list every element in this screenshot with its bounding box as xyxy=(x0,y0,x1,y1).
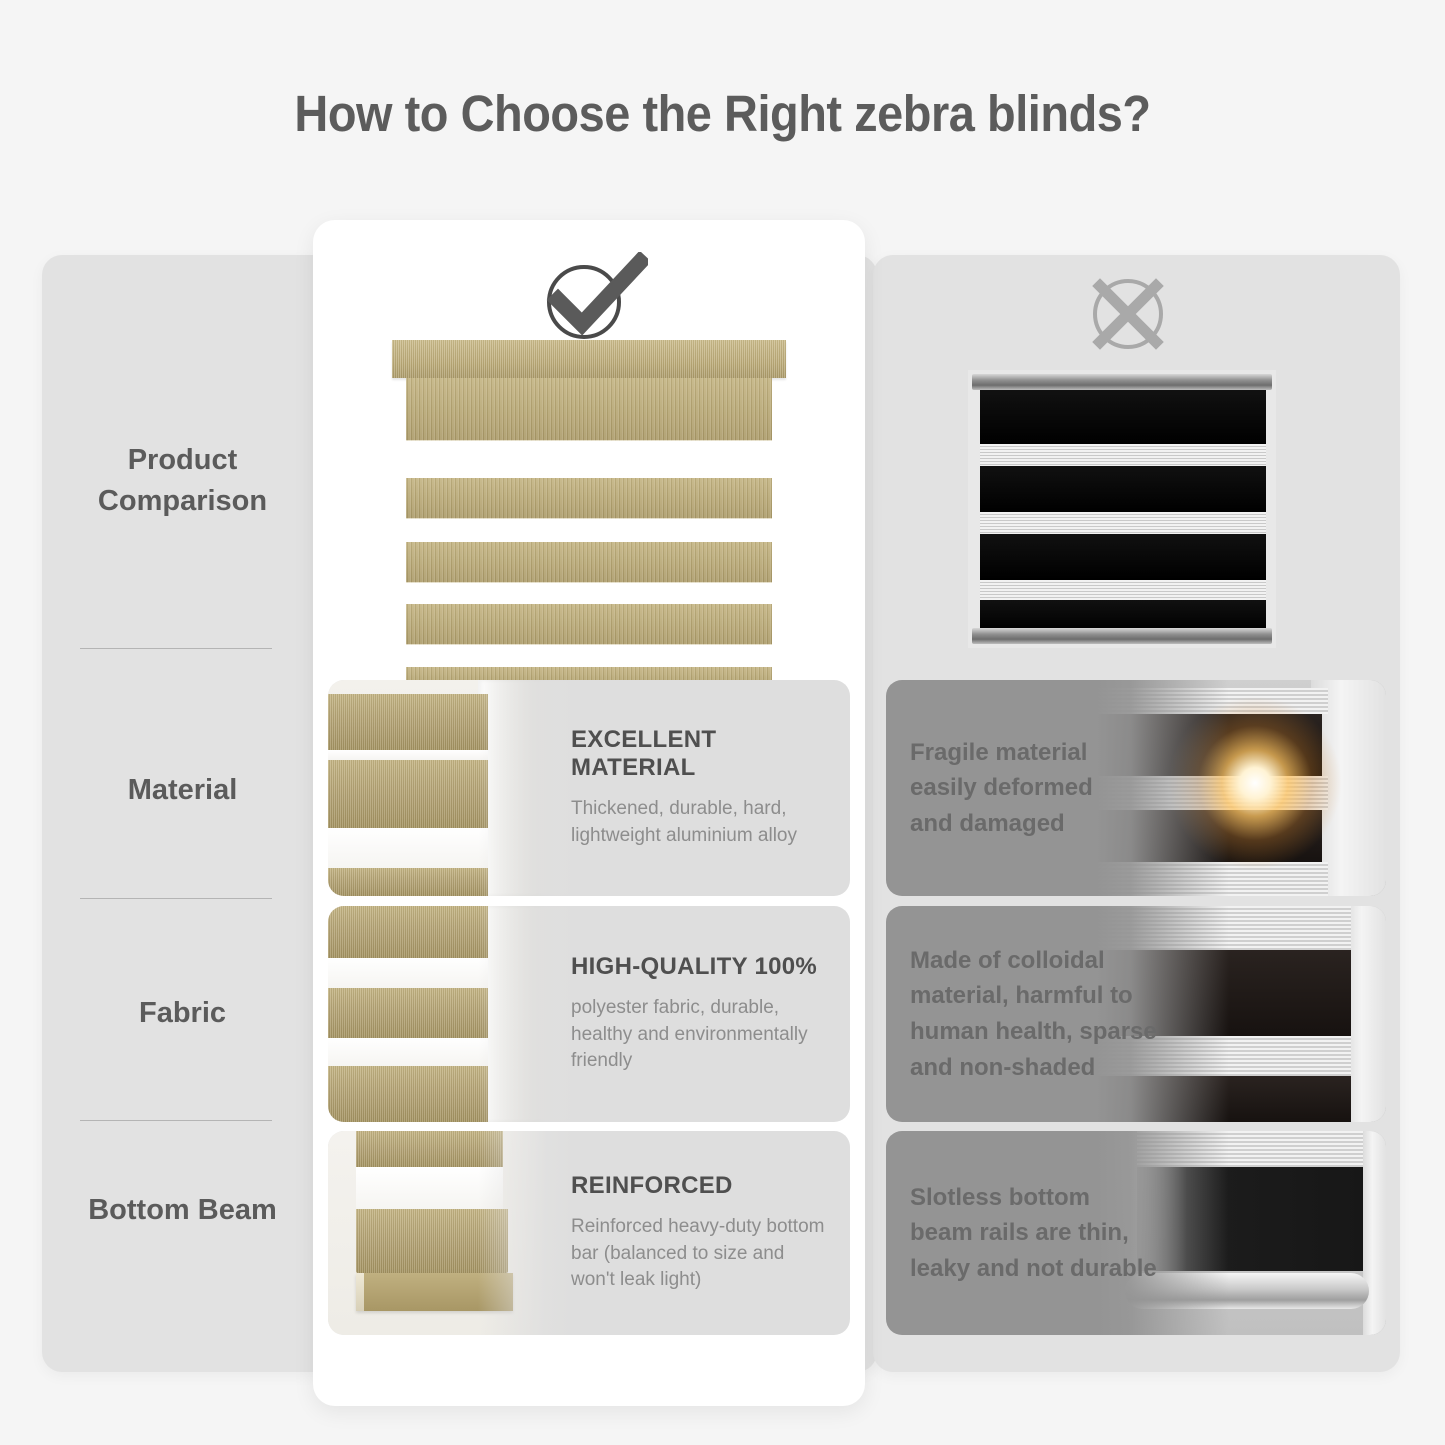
feature-card-bad-material: Fragile material easily deformed and dam… xyxy=(886,680,1386,896)
check-circle-icon xyxy=(536,252,648,344)
blind-dark-band xyxy=(980,534,1266,580)
feature-card-good-material: EXCELLENT MATERIAL Thickened, durable, h… xyxy=(328,680,850,896)
photo-good-bottom-beam xyxy=(328,1131,578,1335)
row-divider-2 xyxy=(80,898,272,899)
row-label-bottom-beam: Bottom Beam xyxy=(60,1190,305,1231)
feature-heading: REINFORCED xyxy=(571,1172,849,1200)
blind-slat xyxy=(406,604,772,645)
row-label-fabric: Fabric xyxy=(60,993,305,1034)
hero-image-good-blind xyxy=(388,340,790,665)
row-label-material: Material xyxy=(60,770,305,811)
blind-sheer-band xyxy=(980,512,1266,534)
feature-body: polyester fabric, durable, healthy and e… xyxy=(571,995,849,1076)
blind-sheer-band xyxy=(980,444,1266,466)
blind-dark-band xyxy=(980,390,1266,444)
blind-bottom-rail xyxy=(972,628,1272,644)
feature-card-bad-bottom-beam: Slotless bottom beam rails are thin, lea… xyxy=(886,1131,1386,1335)
blind-sheer-band xyxy=(980,580,1266,600)
cross-circle-icon xyxy=(1086,272,1170,356)
feature-heading: Made of colloidal material, harmful to h… xyxy=(910,943,1170,1085)
feature-heading: EXCELLENT MATERIAL xyxy=(571,726,839,782)
feature-heading: Slotless bottom beam rails are thin, lea… xyxy=(910,1180,1170,1287)
photo-good-material xyxy=(328,680,578,896)
row-divider-1 xyxy=(80,648,272,649)
feature-card-good-bottom-beam: REINFORCED Reinforced heavy-duty bottom … xyxy=(328,1131,850,1335)
feature-heading: Fragile material easily deformed and dam… xyxy=(910,735,1160,842)
row-label-product-comparison: Product Comparison xyxy=(60,440,305,522)
blind-slat xyxy=(406,542,772,583)
feature-body: Thickened, durable, hard, lightweight al… xyxy=(571,796,839,850)
blind-headrail xyxy=(392,340,786,378)
blind-dark-band xyxy=(980,466,1266,512)
row-label-column: Product Comparison Material Fabric Botto… xyxy=(60,265,305,1365)
blind-slat xyxy=(406,478,772,519)
row-divider-3 xyxy=(80,1120,272,1121)
infographic-page: How to Choose the Right zebra blinds? Pr… xyxy=(0,0,1445,1445)
blind-headrail xyxy=(972,374,1272,390)
feature-card-good-fabric: HIGH-QUALITY 100% polyester fabric, dura… xyxy=(328,906,850,1122)
blind-dark-band xyxy=(980,600,1266,630)
feature-card-bad-fabric: Made of colloidal material, harmful to h… xyxy=(886,906,1386,1122)
feature-heading: HIGH-QUALITY 100% xyxy=(571,953,849,981)
page-title: How to Choose the Right zebra blinds? xyxy=(58,84,1387,143)
feature-body: Reinforced heavy-duty bottom bar (balanc… xyxy=(571,1214,849,1295)
blind-slat xyxy=(406,378,772,441)
photo-good-fabric xyxy=(328,906,578,1122)
hero-image-bad-blind xyxy=(968,370,1276,648)
